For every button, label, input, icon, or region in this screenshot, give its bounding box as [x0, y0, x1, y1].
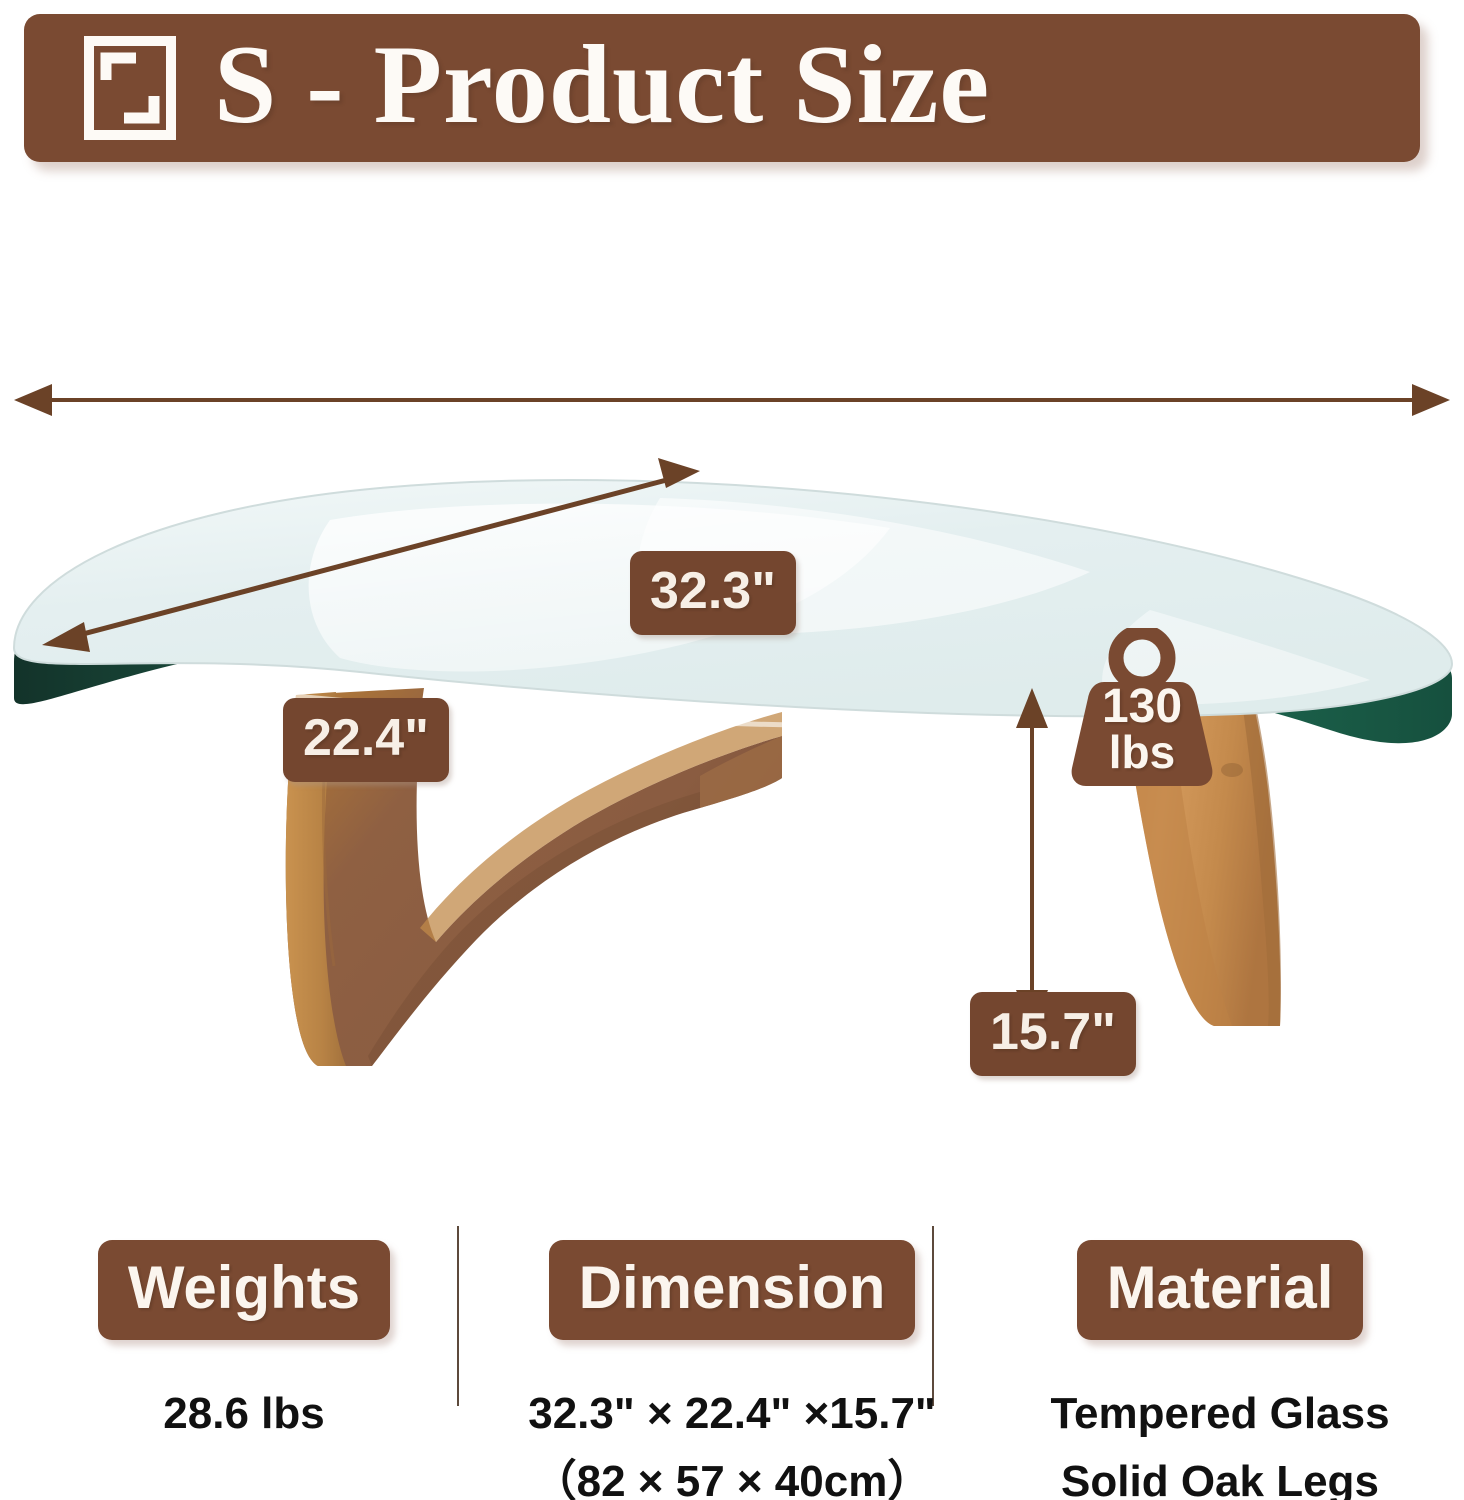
width-dimension-arrow: [14, 384, 1450, 416]
spec-value: Tempered Glass: [1050, 1380, 1389, 1448]
header-banner: S - Product Size: [24, 14, 1420, 162]
height-dimension-badge: 15.7": [970, 992, 1136, 1076]
spec-column-material: Material Tempered Glass Solid Oak Legs: [976, 1218, 1464, 1500]
measure-frame-icon: [84, 36, 176, 140]
spec-column-weights: Weights 28.6 lbs: [0, 1218, 488, 1500]
spec-value: （82 × 57 × 40cm）: [528, 1448, 936, 1500]
product-photo-area: 32.3" 22.4" 15.7" 130 lbs: [0, 180, 1464, 1210]
width-dimension-badge: 32.3": [630, 551, 796, 635]
spec-values-dimension: 32.3" × 22.4" ×15.7" （82 × 57 × 40cm）: [528, 1380, 936, 1500]
spec-column-dimension: Dimension 32.3" × 22.4" ×15.7" （82 × 57 …: [488, 1218, 976, 1500]
spec-value: 28.6 lbs: [163, 1380, 324, 1448]
spec-strip: Weights 28.6 lbs Dimension 32.3" × 22.4"…: [0, 1218, 1464, 1500]
spec-value: 32.3" × 22.4" ×15.7": [528, 1380, 936, 1448]
product-illustration: [0, 180, 1464, 1210]
page-title: S - Product Size: [214, 29, 990, 141]
spec-value: Solid Oak Legs: [1050, 1448, 1389, 1500]
product-size-infographic: S - Product Size: [0, 0, 1464, 1500]
weight-capacity-badge: 130 lbs: [1058, 628, 1226, 788]
spec-title-weights: Weights: [98, 1240, 390, 1340]
weight-kettlebell-icon: [1058, 628, 1226, 788]
spec-title-dimension: Dimension: [549, 1240, 916, 1340]
spec-values-weights: 28.6 lbs: [163, 1380, 324, 1448]
spec-title-material: Material: [1077, 1240, 1364, 1340]
spec-values-material: Tempered Glass Solid Oak Legs: [1050, 1380, 1389, 1500]
depth-dimension-badge: 22.4": [283, 698, 449, 782]
height-dimension-arrow: [1016, 688, 1048, 1030]
